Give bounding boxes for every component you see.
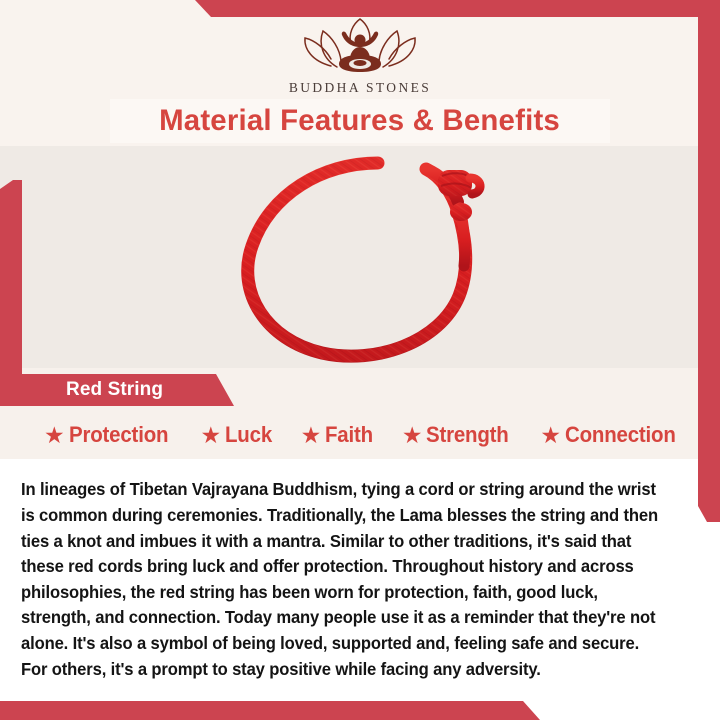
star-icon: ★ <box>402 424 423 447</box>
product-label-banner: Red String <box>0 374 234 406</box>
bottom-left-red-bar <box>0 701 560 720</box>
star-icon: ★ <box>200 424 221 447</box>
star-icon: ★ <box>44 424 65 447</box>
brand-name: BUDDHA STONES <box>0 80 720 96</box>
benefit-label: Strength <box>426 422 509 448</box>
headline-banner: Material Features & Benefits <box>110 99 610 143</box>
infographic-page: BUDDHA STONES Material Features & Benefi… <box>0 0 720 720</box>
benefit-item: ★ Protection <box>44 422 175 448</box>
product-image <box>226 150 516 365</box>
benefit-item: ★ Strength <box>402 422 515 448</box>
benefits-list: ★ Protection ★ Luck ★ Faith ★ Strength ★… <box>44 418 684 452</box>
benefit-item: ★ Faith <box>301 422 377 448</box>
product-label: Red String <box>66 379 163 401</box>
star-icon: ★ <box>540 424 561 447</box>
benefit-item: ★ Connection <box>540 422 684 448</box>
brand-logo: BUDDHA STONES <box>0 18 720 96</box>
benefit-label: Protection <box>69 422 168 448</box>
description-text: In lineages of Tibetan Vajrayana Buddhis… <box>21 477 668 682</box>
star-icon: ★ <box>301 424 322 447</box>
benefit-label: Connection <box>565 422 676 448</box>
benefit-item: ★ Luck <box>200 422 275 448</box>
lotus-meditation-icon <box>301 18 419 76</box>
page-title: Material Features & Benefits <box>160 104 561 138</box>
benefit-label: Luck <box>225 422 272 448</box>
benefit-label: Faith <box>325 422 373 448</box>
left-red-bar <box>0 180 22 392</box>
red-string-bracelet-illustration <box>226 150 516 365</box>
